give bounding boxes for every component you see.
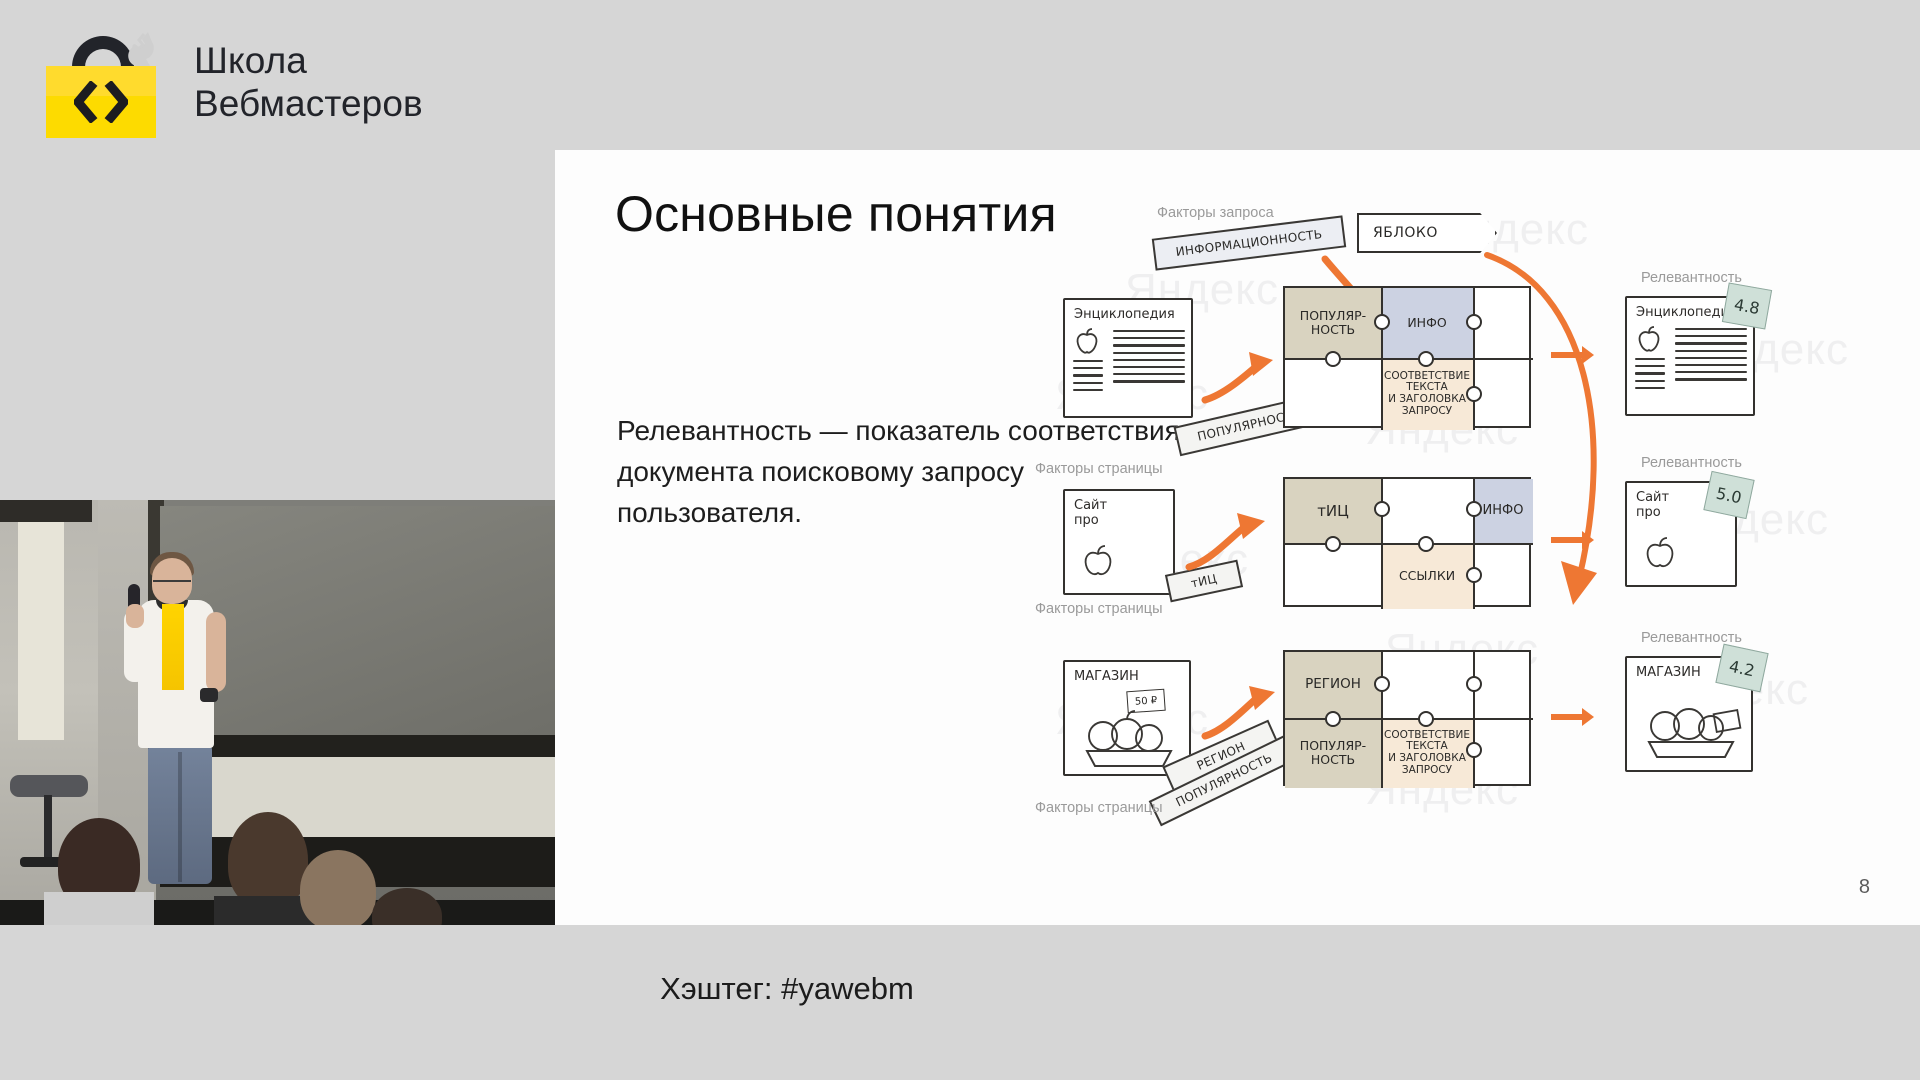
puzzle-piece: ИНФО [1381,288,1473,358]
query-factors-label: Факторы запроса [1157,205,1274,221]
source-document: Сайт про [1063,489,1175,595]
puzzle-piece: СООТВЕТСТВИЕ ТЕКСТА И ЗАГОЛОВКА ЗАПРОСУ [1381,358,1473,430]
document-title: МАГАЗИН [1074,669,1139,684]
puzzle-knob [1374,314,1390,330]
video-stool-leg [44,795,52,865]
conference-speaker-video[interactable] [0,500,555,925]
source-document: МАГАЗИН 50 ₽ [1063,660,1191,776]
puzzle-knob [1325,351,1341,367]
source-document: Энциклопедия [1063,298,1193,418]
puzzle-knob [1374,501,1390,517]
puzzle-knob [1466,676,1482,692]
puzzle-knob [1466,742,1482,758]
arrow-to-result [1551,537,1585,543]
puzzle-board: РЕГИОН ПОПУЛЯР- НОСТЬ СООТВЕТСТВИЕ ТЕКСТ… [1283,650,1531,786]
video-door [18,510,64,740]
document-lines [1635,358,1665,394]
puzzle-divider [1285,543,1533,545]
speaker-left-hand [126,604,144,628]
fruit-basket-icon [1077,708,1181,770]
apple-icon [1636,326,1662,354]
puzzle-piece: ССЫЛКИ [1381,543,1473,609]
document-title: Энциклопедия [1074,307,1175,322]
audience-shoulders [44,892,154,925]
puzzle-piece: тИЦ [1285,479,1381,543]
fruit-basket-icon [1639,698,1743,762]
arrow-to-result [1551,352,1585,358]
video-stool-seat [10,775,88,797]
audience-head [300,850,376,925]
apple-icon [1643,535,1677,569]
puzzle-knob [1466,314,1482,330]
speaker-leg-split [178,752,182,882]
diagram-row: МАГАЗИН 50 ₽ РЕГИОН ПОПУЛЯРНОСТЬ Факторы… [1035,630,1905,820]
relevance-label: Релевантность [1641,270,1742,286]
page-title: Основные понятия [615,185,1057,243]
arrow-to-result [1551,714,1585,720]
puzzle-knob [1466,501,1482,517]
diagram-row: Энциклопедия ПОПУЛЯРНОСТЬ [1035,260,1905,450]
audience-head [228,812,308,908]
puzzle-knob [1418,536,1434,552]
presentation-slide: Основные понятия Релевантность — показат… [555,150,1920,925]
brand-header: Школа Вебмастеров [46,28,423,138]
hashtag-text: Хэштег: #yawebm [0,971,1574,1007]
speaker-glasses [153,580,191,588]
brand-name: Школа Вебмастеров [194,40,423,126]
page-factors-label: Факторы страницы [1035,461,1163,477]
puzzle-knob [1466,386,1482,402]
video-ceiling-beam [0,500,92,522]
relevance-diagram: Яндекс Яндекс Яндекс Яндекс Яндекс Яндек… [1035,205,1905,855]
puzzle-knob [1325,711,1341,727]
puzzle-divider [1285,358,1533,360]
page-factors-label: Факторы страницы [1035,800,1163,816]
puzzle-piece: ПОПУЛЯР- НОСТЬ [1285,288,1381,358]
puzzle-knob [1418,711,1434,727]
document-title: Сайт про [1636,490,1669,521]
puzzle-board: тИЦ ИНФО ССЫЛКИ [1283,477,1531,607]
query-box: ЯБЛОКО [1357,213,1497,253]
document-lines [1113,330,1185,388]
puzzle-knob [1418,351,1434,367]
puzzle-divider [1285,718,1533,720]
puzzle-knob [1325,536,1341,552]
apple-icon [1074,328,1100,356]
relevance-score: 4.8 [1722,282,1772,329]
diagram-row: Факторы страницы Сайт про тИЦ Факторы ст… [1035,455,1905,645]
footer-bar: Хэштег: #yawebm [0,925,1920,1080]
document-lines [1675,328,1747,386]
puzzle-piece: ПОПУЛЯР- НОСТЬ [1285,718,1381,788]
arrow-doc-to-puzzle [1185,513,1271,575]
speaker-lanyard [162,604,184,690]
puzzle-piece: СООТВЕТСТВИЕ ТЕКСТА И ЗАГОЛОВКА ЗАПРОСУ [1381,718,1473,788]
arrow-doc-to-puzzle [1201,350,1279,408]
apple-icon [1081,543,1115,577]
video-screen-lip [160,735,555,757]
puzzle-board: ПОПУЛЯР- НОСТЬ ИНФО СООТВЕТСТВИЕ ТЕКСТА … [1283,286,1531,428]
puzzle-knob [1374,676,1390,692]
puzzle-piece: РЕГИОН [1285,652,1381,718]
page-number: 8 [1859,876,1870,899]
arrow-doc-to-puzzle [1201,686,1281,744]
speaker-remote [200,688,218,702]
document-title: Сайт про [1074,498,1107,529]
code-chevrons-icon [46,66,156,138]
video-lower-wall [160,757,555,837]
page-factors-label: Факторы страницы [1035,601,1163,617]
document-lines [1073,360,1103,396]
document-title: МАГАЗИН [1636,665,1701,680]
relevance-label: Релевантность [1641,455,1742,471]
puzzle-piece: ИНФО [1473,479,1533,543]
puzzle-knob [1466,567,1482,583]
toolbox-code-icon [46,28,164,138]
speaker-right-arm [206,612,226,692]
